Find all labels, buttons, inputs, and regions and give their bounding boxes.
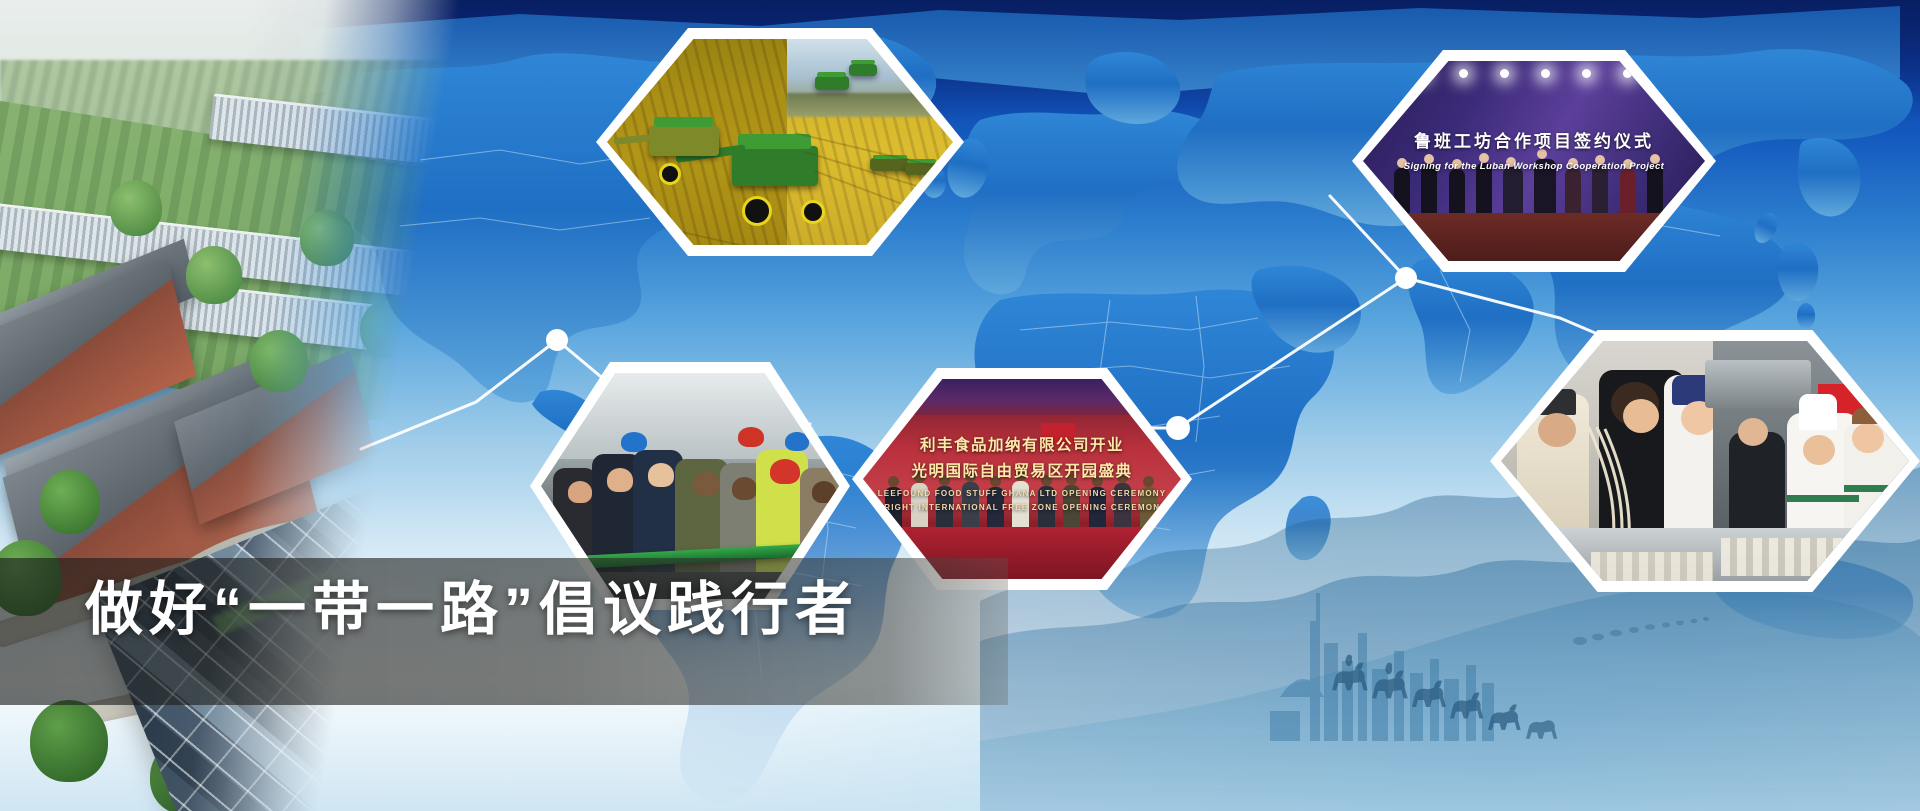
banner-title: 做好“一带一路”倡议践行者: [85, 575, 985, 645]
banner-root: 鲁班工坊合作项目签约仪式 Signing for the Luban Works…: [0, 0, 1920, 811]
